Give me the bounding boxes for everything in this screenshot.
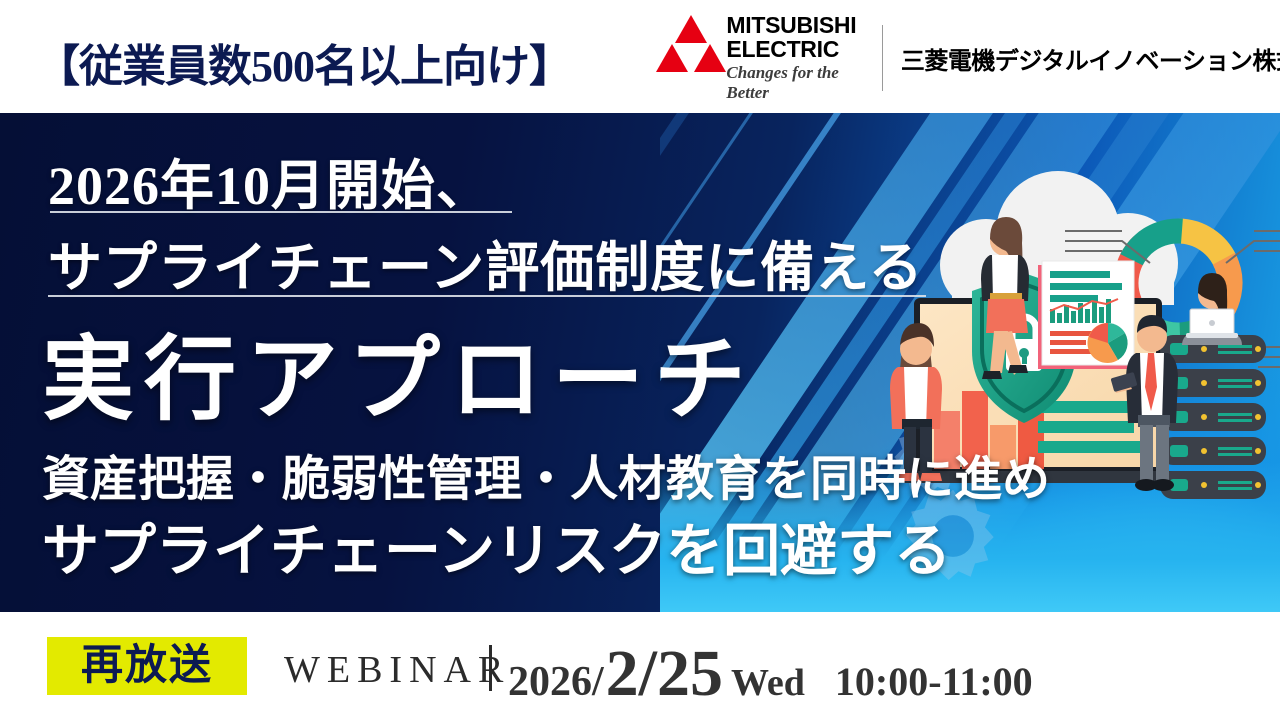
- mitsubishi-electric-logo: MITSUBISHI ELECTRIC Changes for the Bett…: [652, 13, 866, 103]
- pie-chart: [1087, 323, 1127, 363]
- hero-line-4: 資産把握・脆弱性管理・人材教育を同時に進め: [42, 439, 1050, 509]
- brand-tagline: Changes for the Better: [726, 63, 866, 103]
- brand-line-1: MITSUBISHI: [726, 13, 866, 37]
- status-badge: 再放送: [47, 637, 247, 695]
- brand-line-2: ELECTRIC: [726, 37, 866, 61]
- hero-headline: 実行アプローチ: [42, 305, 756, 438]
- hero-rule-2: [48, 295, 926, 297]
- audience-tag: 【従業員数500名以上向け】: [36, 30, 572, 94]
- mitsubishi-wordmark: MITSUBISHI ELECTRIC Changes for the Bett…: [726, 13, 866, 103]
- mitsubishi-three-diamonds-icon: [652, 15, 720, 67]
- report-document: [1038, 261, 1134, 369]
- event-month-day: 2/25: [606, 636, 723, 712]
- event-year: 2026/: [508, 658, 604, 706]
- footer-bar: 再放送 WEBINAR 2026/ 2/25 Wed 10:00-11:00 マ…: [0, 612, 1280, 720]
- company-name: 三菱電機デジタルイノベーション株式会社: [901, 41, 1280, 76]
- event-time-range: 10:00-11:00: [835, 658, 1033, 705]
- hero-rule-1: [50, 211, 512, 213]
- brand-logo-block: MITSUBISHI ELECTRIC Changes for the Bett…: [652, 22, 1280, 94]
- hero-line-2: サプライチェーン評価制度に備える: [48, 223, 924, 302]
- footer-divider: [489, 645, 492, 691]
- header-bar: 【従業員数500名以上向け】 MITSUBISHI ELECTRIC Chang…: [0, 0, 1280, 113]
- logo-divider: [882, 25, 883, 91]
- status-badge-label: 再放送: [81, 645, 213, 687]
- webinar-banner: 2026年10月開始、 サプライチェーン評価制度に備える 実行アプローチ 資産把…: [0, 0, 1280, 720]
- event-day-of-week: Wed: [731, 661, 805, 705]
- webinar-label: WEBINAR: [284, 648, 510, 692]
- hero-text-stack: 2026年10月開始、 サプライチェーン評価制度に備える 実行アプローチ 資産把…: [0, 113, 960, 612]
- hero-line-1: 2026年10月開始、: [48, 141, 491, 220]
- event-datetime: 2026/ 2/25 Wed 10:00-11:00: [508, 636, 1033, 712]
- hero-line-5: サプライチェーンリスクを回避する: [42, 505, 951, 587]
